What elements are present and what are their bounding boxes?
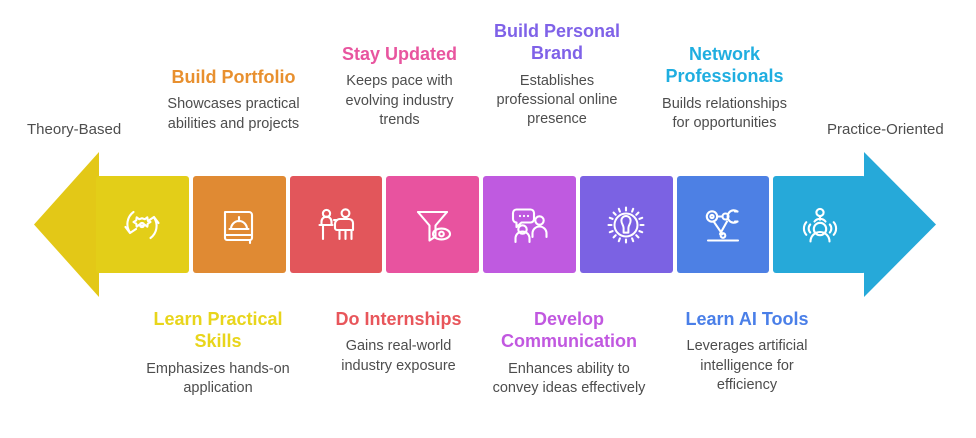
robotic-arm-icon	[697, 199, 749, 251]
step-block-4[interactable]	[386, 176, 479, 273]
callout-description: Showcases practical abilities and projec…	[156, 95, 311, 134]
callout-develop-communication: Develop Communication Enhances ability t…	[490, 308, 648, 398]
callout-learn-practical-skills: Learn Practical Skills Emphasizes hands-…	[142, 308, 294, 398]
callout-title: Build Portfolio	[156, 66, 311, 88]
callout-learn-ai-tools: Learn AI Tools Leverages artificial inte…	[672, 308, 822, 395]
right-end-label: Practice-Oriented	[827, 121, 944, 140]
portfolio-hardhat-book-icon	[213, 199, 265, 251]
callout-description: Establishes professional online presence	[482, 72, 632, 130]
callout-description: Emphasizes hands-on application	[142, 360, 294, 399]
callout-title: Build Personal Brand	[482, 20, 632, 65]
callout-title: Network Professionals	[653, 43, 796, 88]
people-chat-bubble-icon	[503, 199, 555, 251]
step-blocks-strip	[96, 176, 866, 273]
shining-head-brand-icon	[600, 199, 652, 251]
step-block-1[interactable]	[96, 176, 189, 273]
step-block-7[interactable]	[677, 176, 770, 273]
callout-description: Gains real-world industry exposure	[324, 337, 473, 376]
step-block-8[interactable]	[773, 176, 866, 273]
internship-mentor-icon	[310, 199, 362, 251]
callout-description: Enhances ability to convey ideas effecti…	[490, 360, 648, 399]
callout-description: Builds relationships for opportunities	[653, 95, 796, 134]
callout-network-professionals: Network Professionals Builds relationshi…	[653, 43, 796, 133]
step-block-5[interactable]	[483, 176, 576, 273]
step-block-3[interactable]	[290, 176, 383, 273]
callout-title: Do Internships	[324, 308, 473, 330]
callout-title: Develop Communication	[490, 308, 648, 353]
step-block-2[interactable]	[193, 176, 286, 273]
right-arrowhead-icon	[864, 152, 936, 297]
callout-do-internships: Do Internships Gains real-world industry…	[324, 308, 473, 376]
step-block-6[interactable]	[580, 176, 673, 273]
left-end-label: Theory-Based	[27, 121, 121, 140]
callout-description: Leverages artificial intelligence for ef…	[672, 337, 822, 395]
callout-stay-updated: Stay Updated Keeps pace with evolving in…	[331, 43, 468, 130]
network-people-icon	[794, 199, 846, 251]
gear-refresh-cycle-icon	[116, 199, 168, 251]
diagram-canvas: Theory-Based Practice-Oriented	[0, 0, 976, 438]
callout-description: Keeps pace with evolving industry trends	[331, 72, 468, 130]
callout-build-personal-brand: Build Personal Brand Establishes profess…	[482, 20, 632, 129]
callout-title: Learn AI Tools	[672, 308, 822, 330]
callout-title: Stay Updated	[331, 43, 468, 65]
callout-title: Learn Practical Skills	[142, 308, 294, 353]
callout-build-portfolio: Build Portfolio Showcases practical abil…	[156, 66, 311, 134]
left-arrowhead-icon	[34, 152, 99, 297]
funnel-eye-trends-icon	[407, 199, 459, 251]
